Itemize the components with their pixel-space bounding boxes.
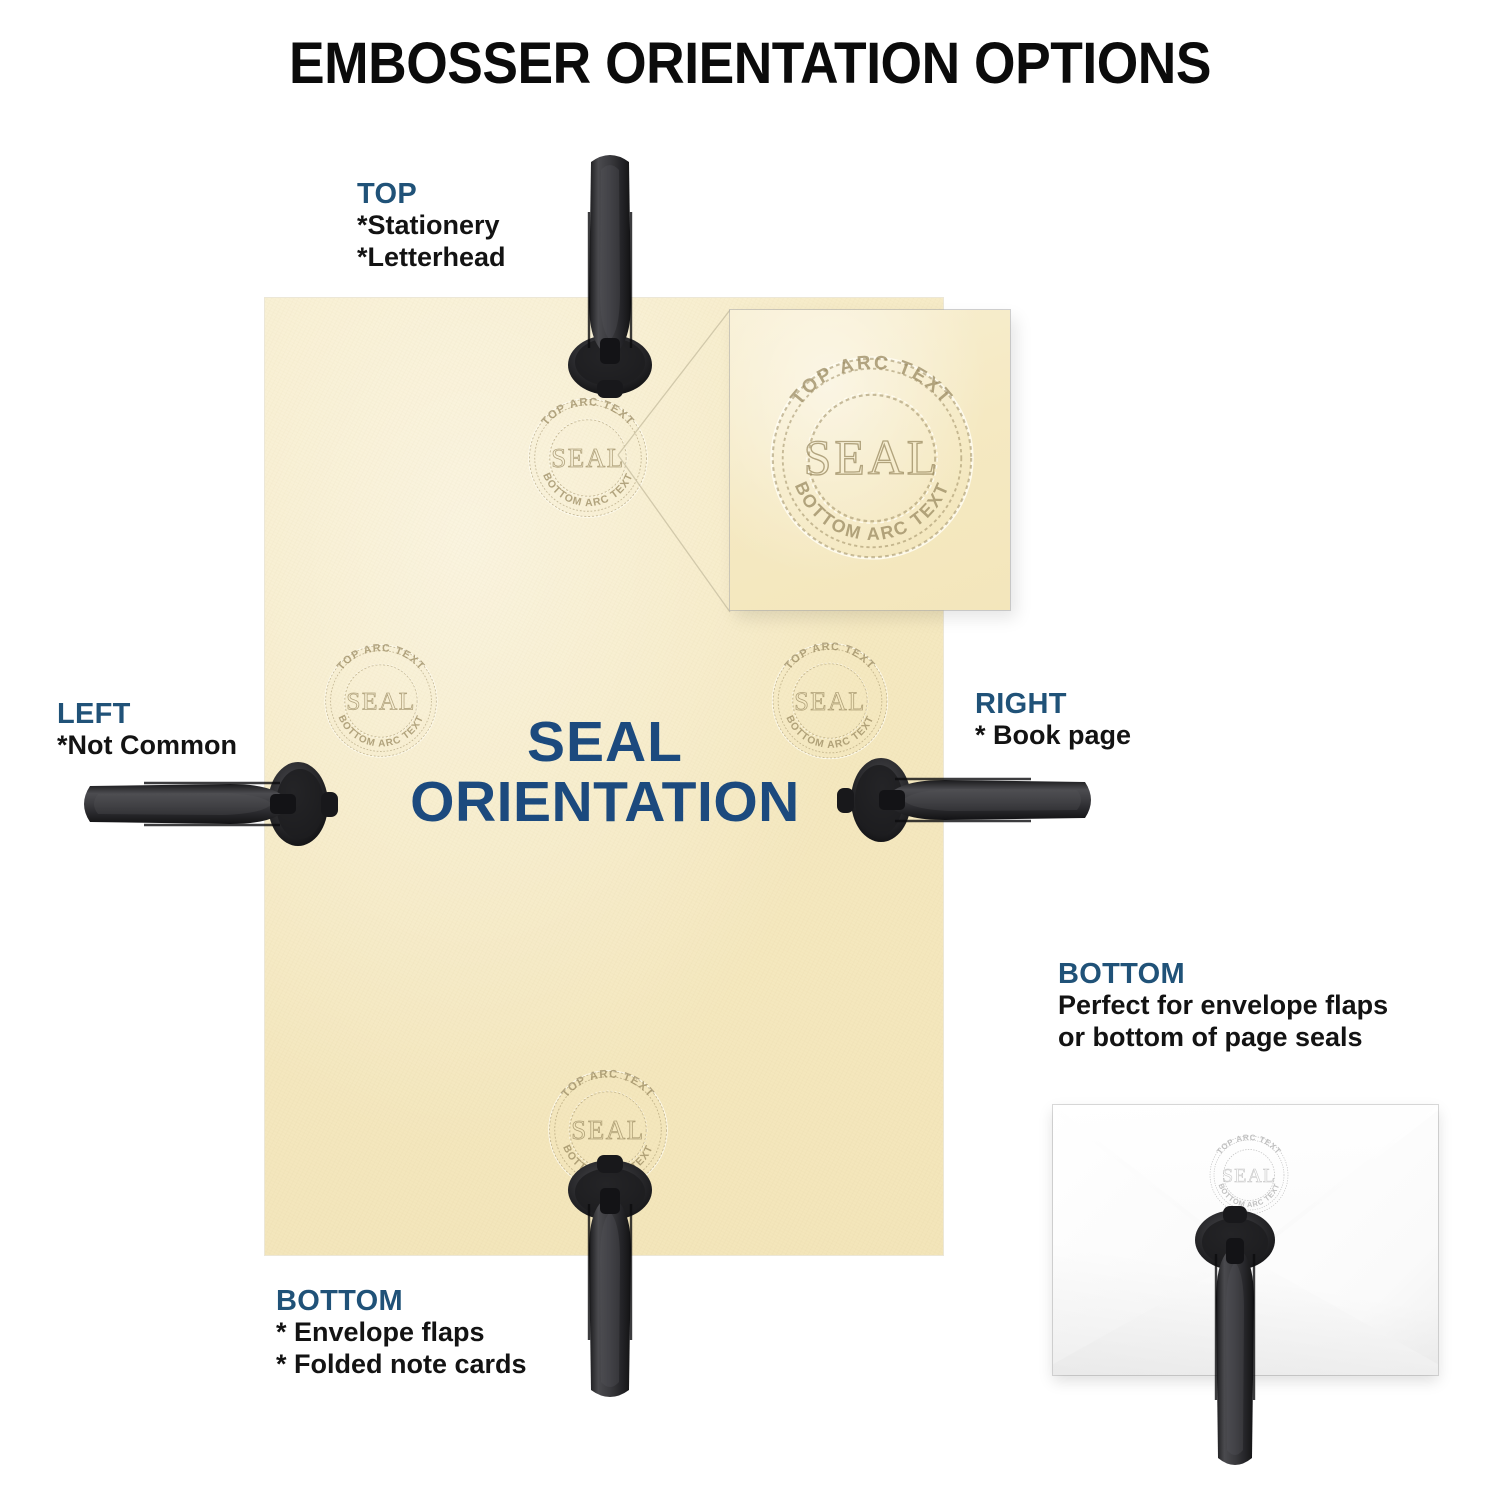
label-right-line-1: * Book page bbox=[975, 720, 1131, 752]
label-left: LEFT *Not Common bbox=[57, 698, 237, 762]
embosser-icon-bottom-paper bbox=[545, 1150, 675, 1400]
label-left-heading: LEFT bbox=[57, 698, 237, 730]
embossed-seal-magnified: TOP ARC TEXT BOTTOM ARC TEXT SEAL bbox=[748, 334, 996, 582]
center-caption-line2: ORIENTATION bbox=[355, 772, 855, 832]
center-caption-line1: SEAL bbox=[355, 712, 855, 772]
embosser-icon-top bbox=[545, 152, 675, 402]
label-top-line-1: *Stationery bbox=[357, 210, 506, 242]
embosser-icon-right bbox=[845, 752, 1093, 848]
label-bottom-paper-line-1: * Envelope flaps bbox=[276, 1317, 527, 1349]
label-left-line-1: *Not Common bbox=[57, 730, 237, 762]
label-right-heading: RIGHT bbox=[975, 688, 1131, 720]
label-bottom-envelope-line-2: or bottom of page seals bbox=[1058, 1022, 1388, 1054]
embosser-icon-left bbox=[82, 756, 332, 852]
magnified-seal-panel: TOP ARC TEXT BOTTOM ARC TEXT SEAL bbox=[730, 310, 1010, 610]
seal-top-arc-text: TOP ARC TEXT bbox=[787, 352, 957, 409]
page-title: EMBOSSER ORIENTATION OPTIONS bbox=[60, 30, 1440, 97]
svg-text:BOTTOM ARC TEXT: BOTTOM ARC TEXT bbox=[791, 479, 953, 544]
label-bottom-envelope-heading: BOTTOM bbox=[1058, 958, 1388, 990]
label-bottom-paper: BOTTOM * Envelope flaps * Folded note ca… bbox=[276, 1285, 527, 1381]
label-top-heading: TOP bbox=[357, 178, 506, 210]
center-caption: SEAL ORIENTATION bbox=[355, 712, 855, 833]
label-bottom-envelope: BOTTOM Perfect for envelope flaps or bot… bbox=[1058, 958, 1388, 1054]
seal-bottom-arc-text: BOTTOM ARC TEXT bbox=[791, 479, 953, 544]
label-top: TOP *Stationery *Letterhead bbox=[357, 178, 506, 274]
seal-center-text: SEAL bbox=[804, 430, 940, 485]
svg-text:TOP ARC TEXT: TOP ARC TEXT bbox=[787, 352, 957, 409]
label-right: RIGHT * Book page bbox=[975, 688, 1131, 752]
label-bottom-envelope-line-1: Perfect for envelope flaps bbox=[1058, 990, 1388, 1022]
label-top-line-2: *Letterhead bbox=[357, 242, 506, 274]
label-bottom-paper-heading: BOTTOM bbox=[276, 1285, 527, 1317]
embosser-icon-bottom-envelope bbox=[1170, 1200, 1300, 1470]
label-bottom-paper-line-2: * Folded note cards bbox=[276, 1349, 527, 1381]
